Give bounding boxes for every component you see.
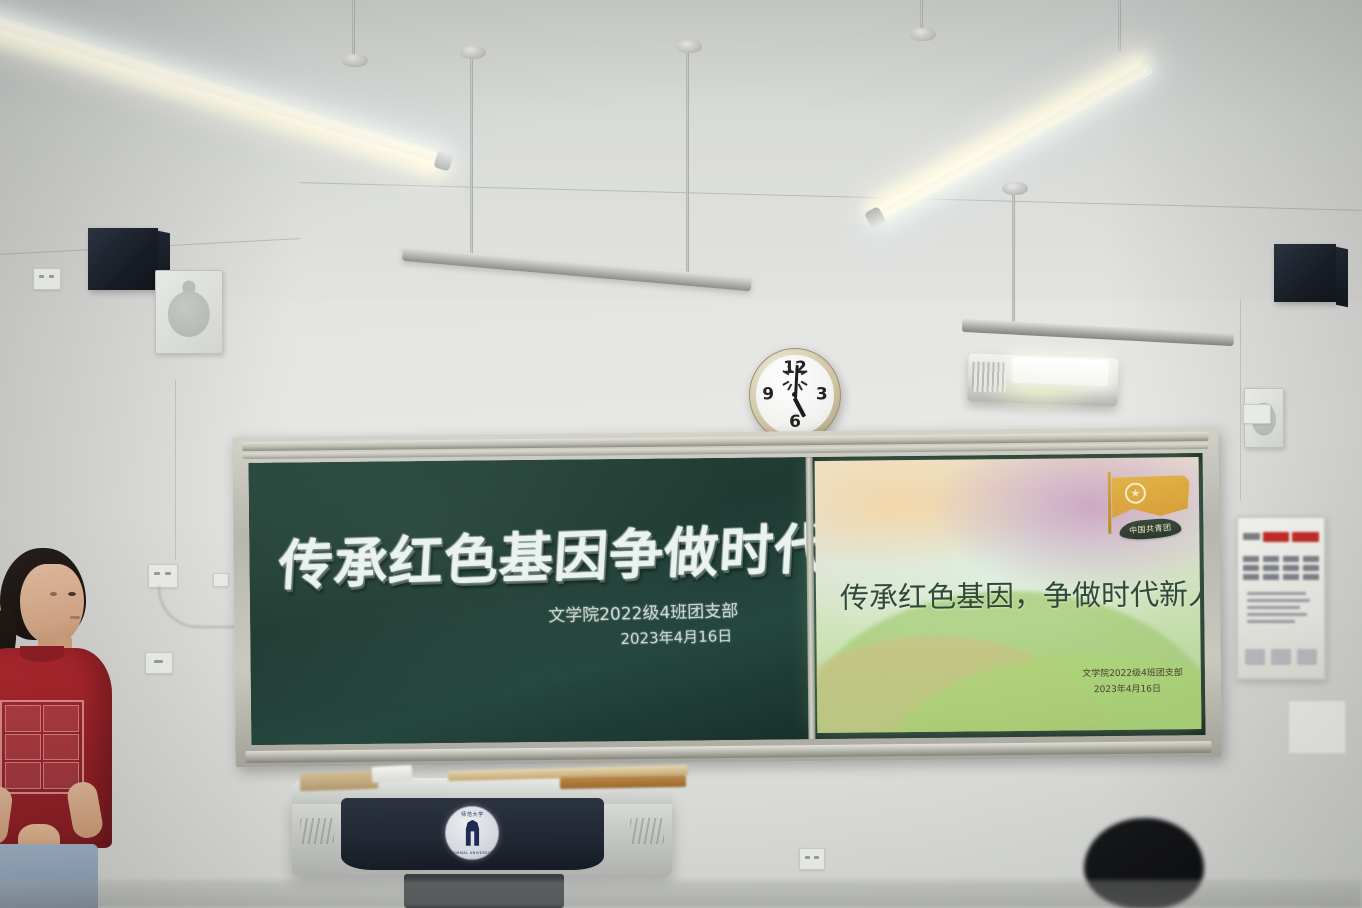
- mouth: [70, 616, 80, 619]
- face: [20, 564, 84, 644]
- podium-vent-left: [300, 818, 334, 844]
- slide-subtitle-org: 文学院2022级4班团支部: [1082, 665, 1183, 679]
- wall-speaker-white: [155, 270, 223, 354]
- rail-hanger-rod: [686, 46, 689, 282]
- crest-bottom-text: NORMAL UNIVERSITY: [446, 851, 498, 855]
- blackboard: 传承红色基因争做时代新人 文学院2022级4班团支部 2023年4月16日 中国…: [232, 427, 1221, 767]
- blackboard-surface: 传承红色基因争做时代新人 文学院2022级4班团支部 2023年4月16日 中国…: [249, 453, 1206, 745]
- wall-outlet[interactable]: [799, 848, 825, 870]
- projector-rod-cap: [1002, 182, 1028, 195]
- light-rod-cap: [342, 54, 368, 67]
- wall-speaker-dark: [88, 228, 158, 290]
- wall-seam: [175, 380, 176, 560]
- light-rod-cap: [910, 28, 936, 41]
- flag-star-icon: [1125, 483, 1146, 504]
- wall-speaker-dark: [1274, 244, 1336, 302]
- wall-seam: [1240, 300, 1241, 500]
- blackboard-panel-left: 传承红色基因争做时代新人 文学院2022级4班团支部 2023年4月16日: [249, 457, 809, 745]
- rail-hanger-rod: [470, 52, 473, 264]
- wall-notice-small: [1288, 700, 1346, 754]
- clock-number-9: 9: [762, 386, 774, 403]
- poster-text-lines: [1247, 592, 1316, 627]
- chalkboard-subtitle-org: 文学院2022级4班团支部: [548, 596, 739, 626]
- flag-cloth: [1112, 475, 1190, 522]
- communist-youth-league-flag-icon: 中国共青团: [1105, 475, 1202, 544]
- eye: [50, 592, 57, 596]
- poster-footer: [1245, 649, 1317, 665]
- slide-subtitle-date: 2023年4月16日: [1094, 681, 1161, 695]
- rail-rod-cap: [676, 40, 702, 53]
- speaker-cone: [168, 291, 210, 337]
- flag-ribbon-label: 中国共青团: [1129, 522, 1172, 536]
- light-hanger-rod: [352, 0, 355, 62]
- poster-header: [1243, 529, 1319, 544]
- podium-vent-right: [630, 818, 664, 844]
- flag-ribbon: 中国共青团: [1119, 517, 1182, 541]
- poster-grid: [1243, 556, 1319, 580]
- classroom-photo: 12 3 6 9 传承红色基因争做时代新人 文学院2022级4班团支部 2023: [0, 0, 1362, 908]
- wall-notice-poster: [1236, 516, 1326, 680]
- chalkboard-subtitle-date: 2023年4月16日: [620, 625, 732, 649]
- clock-number-6: 6: [789, 414, 801, 431]
- ceiling-projector: [967, 353, 1119, 406]
- slide-title: 传承红色基因，争做时代新人: [840, 571, 1202, 617]
- shirt-collar: [20, 646, 64, 662]
- flag-pole: [1108, 472, 1112, 534]
- wooden-pointer[interactable]: [560, 775, 686, 789]
- wall-clock: 12 3 6 9: [749, 348, 841, 442]
- wall-switch[interactable]: [1243, 404, 1271, 424]
- clock-center-pin: [792, 392, 797, 397]
- clock-face: 12 3 6 9: [756, 355, 833, 434]
- rail-rod-cap: [460, 46, 486, 59]
- chalk-box[interactable]: [372, 765, 413, 783]
- projected-slide: 中国共青团 传承红色基因，争做时代新人 文学院2022级4班团支部 2023年4…: [815, 457, 1202, 733]
- shirt-graphic-print: [0, 700, 84, 794]
- light-hanger-rod: [1118, 0, 1121, 52]
- crest-arch-symbol: [461, 820, 483, 846]
- projector-lens-glow: [1012, 357, 1109, 386]
- crest-top-text: 师范大学: [446, 811, 498, 818]
- projector-hanger-rod: [1012, 188, 1015, 330]
- university-crest-icon: 师范大学 NORMAL UNIVERSITY: [445, 806, 499, 860]
- floor: [0, 880, 1362, 908]
- clock-number-3: 3: [816, 386, 828, 403]
- podium-paper-stack[interactable]: [300, 771, 379, 792]
- podium-front-panel: 师范大学 NORMAL UNIVERSITY: [341, 798, 603, 870]
- eye: [68, 592, 76, 596]
- wall-switch[interactable]: [213, 573, 229, 587]
- student-presenter: [0, 548, 174, 908]
- wall-outlet[interactable]: [33, 268, 61, 290]
